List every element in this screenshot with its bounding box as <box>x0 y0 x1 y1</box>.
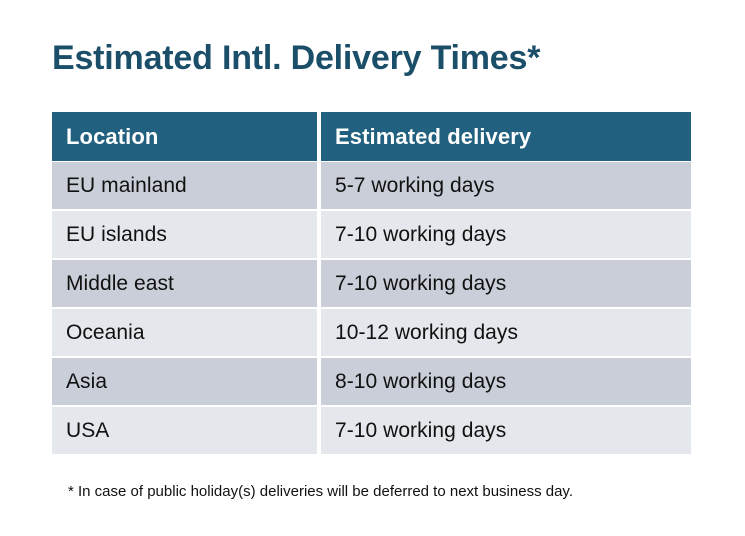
cell-delivery: 10-12 working days <box>321 308 691 357</box>
table-row: EU islands 7-10 working days <box>52 210 691 259</box>
cell-delivery: 5-7 working days <box>321 161 691 210</box>
table-row: EU mainland 5-7 working days <box>52 161 691 210</box>
footnote-text: * In case of public holiday(s) deliverie… <box>68 481 708 503</box>
delivery-times-table: Location Estimated delivery EU mainland … <box>52 112 691 455</box>
column-header-estimated-delivery: Estimated delivery <box>321 112 691 161</box>
table-header: Location Estimated delivery <box>52 112 691 161</box>
cell-delivery: 7-10 working days <box>321 210 691 259</box>
table-row: USA 7-10 working days <box>52 406 691 455</box>
page-title: Estimated Intl. Delivery Times* <box>52 36 702 80</box>
cell-location: EU mainland <box>52 161 321 210</box>
cell-delivery: 7-10 working days <box>321 259 691 308</box>
cell-location: EU islands <box>52 210 321 259</box>
table-body: EU mainland 5-7 working days EU islands … <box>52 161 691 455</box>
cell-delivery: 8-10 working days <box>321 357 691 406</box>
cell-location: Middle east <box>52 259 321 308</box>
cell-location: USA <box>52 406 321 455</box>
table-row: Oceania 10-12 working days <box>52 308 691 357</box>
column-header-location: Location <box>52 112 321 161</box>
cell-location: Asia <box>52 357 321 406</box>
table-header-row: Location Estimated delivery <box>52 112 691 161</box>
table-row: Asia 8-10 working days <box>52 357 691 406</box>
delivery-times-panel: Estimated Intl. Delivery Times* Location… <box>0 0 745 536</box>
table-row: Middle east 7-10 working days <box>52 259 691 308</box>
cell-delivery: 7-10 working days <box>321 406 691 455</box>
cell-location: Oceania <box>52 308 321 357</box>
